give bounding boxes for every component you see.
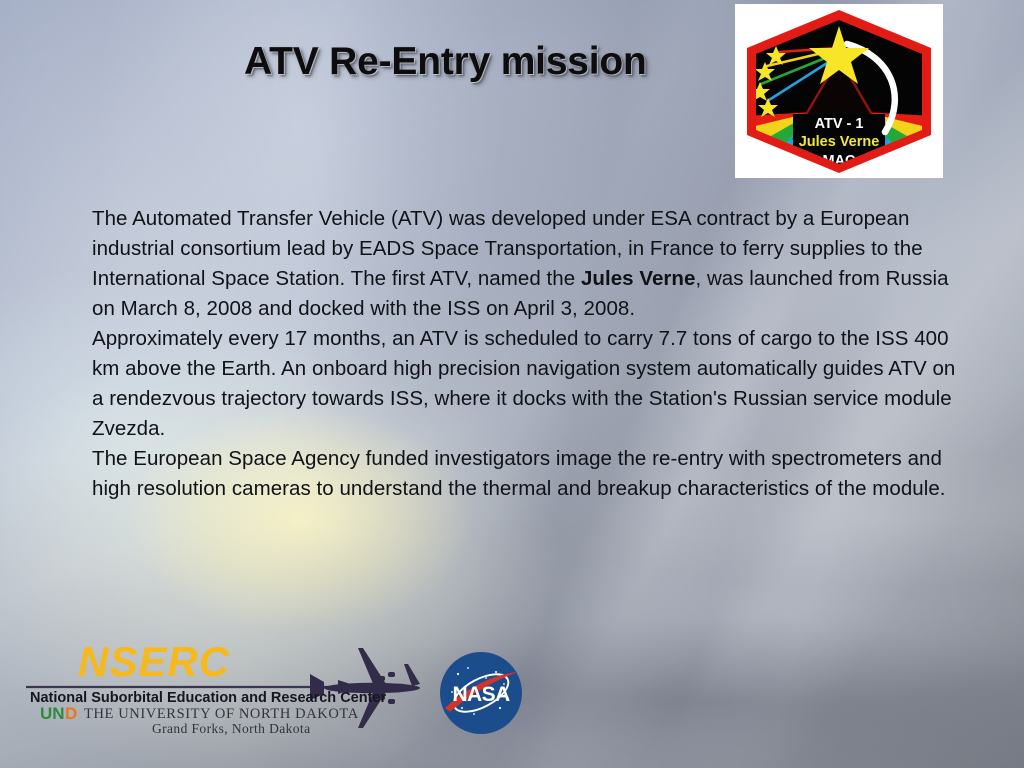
body-paragraph-1: The Automated Transfer Vehicle (ATV) was… <box>92 204 964 324</box>
und-university-name: THE UNIVERSITY OF NORTH DAKOTA <box>84 706 359 722</box>
und-mark-d: D <box>65 704 77 723</box>
nserc-full-name: National Suborbital Education and Resear… <box>30 690 386 706</box>
patch-line2: Jules Verne <box>799 134 880 150</box>
paragraph-1-run-2-bold: Jules Verne <box>581 267 696 290</box>
nserc-acronym: NSERC <box>78 638 230 685</box>
body-paragraph-2: Approximately every 17 months, an ATV is… <box>92 324 964 444</box>
mission-patch-image: ATV - 1 Jules Verne MAC <box>735 4 943 178</box>
und-mark-un: UN <box>40 704 65 723</box>
patch-line1: ATV - 1 <box>815 116 864 132</box>
body-paragraph-3: The European Space Agency funded investi… <box>92 444 964 504</box>
nasa-wordmark: NASA <box>452 683 510 706</box>
nasa-logo: NASA <box>438 650 524 736</box>
slide-body-text: The Automated Transfer Vehicle (ATV) was… <box>92 204 964 504</box>
nserc-logo: NSERC National Suborbital Education and … <box>22 638 442 738</box>
presentation-slide: ATV Re-Entry mission <box>0 0 1024 768</box>
slide-title: ATV Re-Entry mission <box>244 40 647 84</box>
und-location: Grand Forks, North Dakota <box>152 721 310 736</box>
